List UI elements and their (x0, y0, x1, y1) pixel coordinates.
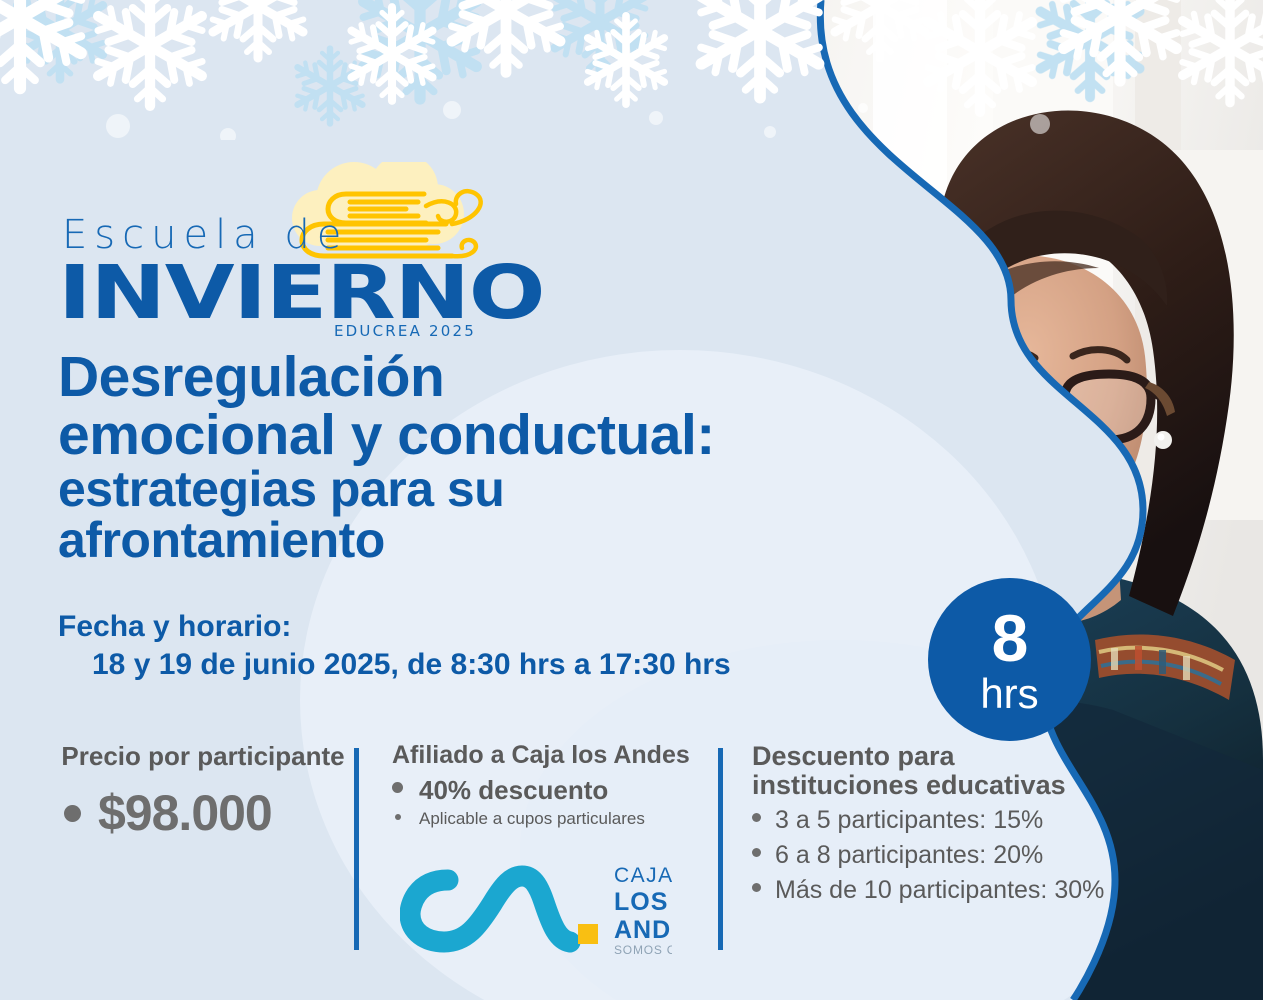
institutions-heading: Descuento para instituciones educativas (752, 742, 1172, 800)
caja-heading: Afiliado a Caja los Andes (392, 742, 712, 769)
hours-badge: 8 hrs (928, 578, 1091, 741)
column-institutions: Descuento para instituciones educativas … (752, 742, 1172, 905)
bullet-icon (395, 814, 401, 820)
date-and-schedule: Fecha y horario: 18 y 19 de junio 2025, … (58, 608, 731, 683)
hours-unit: hrs (980, 673, 1038, 715)
column-divider-1 (354, 748, 359, 950)
snowflake-decoration (0, 0, 1263, 140)
caja-discount-text: 40% descuento (419, 775, 608, 806)
bullet-icon (752, 848, 761, 857)
price-heading: Precio por participante (58, 742, 348, 770)
svg-text:LOS: LOS (614, 888, 668, 916)
bullet-icon (64, 805, 81, 822)
pricing-columns: Precio por participante $98.000 Afiliado… (58, 742, 1178, 957)
date-label: Fecha y horario: (58, 608, 731, 646)
bullet-icon (392, 782, 403, 793)
caja-note-text: Aplicable a cupos particulares (419, 809, 645, 829)
list-item: 3 a 5 participantes: 15% (752, 806, 1172, 835)
caja-discount-item: 40% descuento (392, 775, 712, 806)
bullet-icon (752, 883, 761, 892)
list-item-text: 3 a 5 participantes: 15% (775, 806, 1043, 835)
bullet-icon (752, 813, 761, 822)
course-title: Desregulación emocional y conductual: es… (58, 348, 798, 566)
svg-text:ANDES: ANDES (614, 916, 672, 944)
event-logo: Escuela de INVIERNO EDUCREA 2025 (58, 170, 518, 340)
title-line-4: afrontamiento (58, 515, 798, 566)
hours-number: 8 (992, 605, 1028, 671)
poster-canvas: Escuela de INVIERNO EDUCREA 2025 Desregu… (0, 0, 1263, 1000)
column-divider-2 (718, 748, 723, 950)
caja-los-andes-logo: CAJA LOS ANDES SOMOS CChC (400, 860, 672, 961)
list-item-text: 6 a 8 participantes: 20% (775, 841, 1043, 870)
list-item: 6 a 8 participantes: 20% (752, 841, 1172, 870)
title-line-1: Desregulación (58, 348, 798, 406)
price-row: $98.000 (58, 784, 348, 842)
list-item-text: Más de 10 participantes: 30% (775, 876, 1104, 905)
institutions-heading-line-2: instituciones educativas (752, 771, 1172, 800)
logo-sub-educrea: EDUCREA 2025 (334, 322, 476, 340)
column-caja-los-andes: Afiliado a Caja los Andes 40% descuento … (392, 742, 712, 829)
institutions-list: 3 a 5 participantes: 15% 6 a 8 participa… (752, 806, 1172, 905)
price-value: $98.000 (98, 784, 272, 842)
title-line-3: estrategias para su (58, 464, 798, 515)
list-item: Más de 10 participantes: 30% (752, 876, 1172, 905)
column-price: Precio por participante $98.000 (58, 742, 348, 842)
caja-note-item: Aplicable a cupos particulares (392, 809, 712, 829)
institutions-heading-line-1: Descuento para (752, 742, 1172, 771)
svg-text:SOMOS CChC: SOMOS CChC (614, 943, 672, 956)
date-value: 18 y 19 de junio 2025, de 8:30 hrs a 17:… (92, 646, 731, 684)
svg-text:CAJA: CAJA (614, 864, 672, 887)
title-line-2: emocional y conductual: (58, 406, 798, 464)
